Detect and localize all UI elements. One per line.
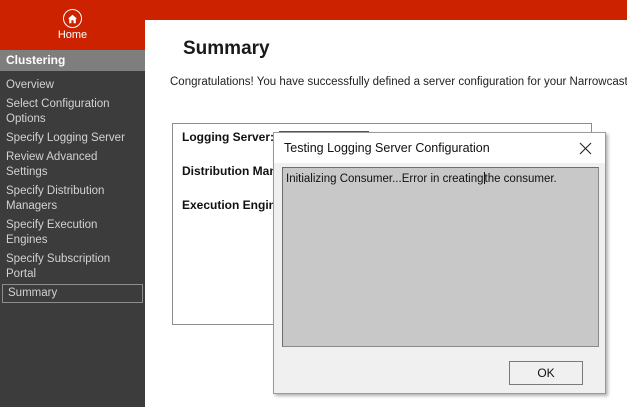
sidebar-item-specify-distribution-managers[interactable]: Specify Distribution Managers (0, 182, 145, 216)
dialog-log-textarea[interactable]: Initializing Consumer...Error in creatin… (282, 167, 599, 347)
home-block: Home (0, 0, 145, 50)
sidebar: Clustering Overview Select Configuration… (0, 50, 145, 407)
sidebar-item-specify-execution-engines[interactable]: Specify Execution Engines (0, 216, 145, 250)
sidebar-item-overview[interactable]: Overview (0, 76, 145, 95)
dialog-titlebar: Testing Logging Server Configuration (274, 133, 605, 163)
sidebar-item-specify-logging-server[interactable]: Specify Logging Server (0, 129, 145, 148)
sidebar-item-select-configuration-options[interactable]: Select Configuration Options (0, 95, 145, 129)
sidebar-item-list: Overview Select Configuration Options Sp… (0, 71, 145, 303)
home-icon (63, 9, 82, 28)
close-icon[interactable] (565, 134, 605, 163)
dialog-message-part1: Initializing Consumer...Error in creatin… (286, 173, 484, 185)
sidebar-item-summary[interactable]: Summary (2, 284, 143, 303)
sidebar-item-specify-subscription-portal[interactable]: Specify Subscription Portal (0, 250, 145, 284)
summary-label-logging-server: Logging Server: (182, 130, 274, 144)
sidebar-title: Clustering (0, 50, 145, 71)
page-title: Summary (183, 38, 270, 60)
dialog-footer: OK (274, 353, 605, 393)
sidebar-item-review-advanced-settings[interactable]: Review Advanced Settings (0, 148, 145, 182)
summary-label-distribution-managers: Distribution Mana (182, 164, 283, 178)
home-label: Home (58, 29, 87, 41)
dialog-message-part2: the consumer. (485, 173, 557, 185)
ok-button[interactable]: OK (509, 361, 583, 385)
home-button[interactable]: Home (0, 0, 145, 50)
dialog-title: Testing Logging Server Configuration (284, 141, 490, 155)
summary-label-execution-engines: Execution Engine (182, 198, 283, 212)
testing-logging-server-dialog: Testing Logging Server Configuration Ini… (273, 132, 606, 394)
congratulations-text: Congratulations! You have successfully d… (170, 76, 627, 88)
dialog-log-line: Initializing Consumer...Error in creatin… (286, 172, 594, 186)
